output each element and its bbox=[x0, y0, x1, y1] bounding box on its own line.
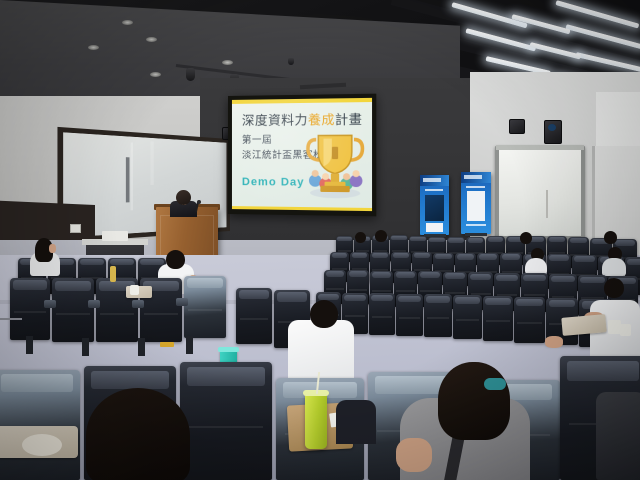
audience-head bbox=[604, 278, 624, 298]
drink-bottle bbox=[110, 266, 116, 282]
seat[interactable] bbox=[369, 293, 395, 335]
audience-hair bbox=[86, 388, 190, 480]
slide-canvas: 深度資料力養成計畫 第一屆 淡江統計盃黑客松 Demo Day bbox=[232, 98, 372, 211]
audience-head bbox=[166, 250, 185, 269]
seat-armrest bbox=[176, 298, 188, 306]
audience-torso bbox=[336, 400, 376, 444]
roll-up-banner-left bbox=[420, 175, 449, 235]
recessed-downlight bbox=[88, 45, 99, 50]
projection-screen: 深度資料力養成計畫 第一屆 淡江統計盃黑客松 Demo Day bbox=[228, 94, 376, 217]
audience-arm bbox=[396, 438, 432, 472]
banner-header bbox=[461, 172, 491, 183]
white-cup bbox=[620, 324, 631, 336]
lecture-hall-photo: 深度資料力養成計畫 第一屆 淡江統計盃黑客松 Demo Day bbox=[0, 0, 640, 480]
seat[interactable] bbox=[10, 278, 50, 340]
recessed-downlight bbox=[146, 37, 157, 42]
blind-rail bbox=[496, 145, 584, 150]
microphone-head bbox=[197, 200, 201, 204]
audience-head bbox=[520, 232, 532, 244]
seat[interactable] bbox=[236, 288, 272, 344]
track-spotlight bbox=[186, 68, 195, 81]
banner-textblock bbox=[426, 223, 443, 232]
banner-poster-area bbox=[467, 191, 485, 221]
banner-stand bbox=[465, 233, 487, 236]
recessed-downlight bbox=[150, 72, 161, 77]
hair-tie bbox=[484, 378, 506, 390]
wall-outlet bbox=[70, 224, 81, 233]
teal-cup-lid bbox=[218, 347, 239, 352]
seat[interactable] bbox=[52, 278, 94, 342]
audience-head bbox=[355, 232, 366, 243]
recessed-downlight bbox=[122, 20, 133, 25]
banner-photo bbox=[425, 195, 444, 221]
audience-hand bbox=[545, 336, 563, 348]
recessed-downlight bbox=[222, 60, 233, 65]
seat-armrest bbox=[44, 300, 56, 308]
roll-up-banner-right bbox=[461, 172, 491, 234]
laptop-on-cart bbox=[102, 231, 128, 241]
banner-header bbox=[420, 175, 449, 186]
floor-cable bbox=[0, 318, 22, 320]
audience-torso bbox=[602, 258, 626, 276]
window-roller-blind bbox=[499, 150, 581, 236]
plate bbox=[22, 434, 62, 456]
audience-torso bbox=[596, 392, 640, 480]
blind-pull-cord[interactable] bbox=[546, 190, 548, 218]
banner-title-line bbox=[425, 189, 443, 191]
seat-armrest bbox=[132, 300, 144, 308]
whiteboard-marker-mark bbox=[125, 158, 129, 203]
seat[interactable] bbox=[483, 296, 513, 341]
green-drink-cup bbox=[305, 393, 327, 449]
seat[interactable] bbox=[396, 294, 423, 336]
seat-armrest bbox=[88, 300, 100, 308]
wall-speaker bbox=[509, 119, 525, 134]
whiteboard-streak bbox=[151, 142, 154, 185]
audience-head bbox=[604, 231, 617, 244]
seat[interactable] bbox=[424, 294, 452, 337]
whiteboard-streak bbox=[130, 142, 132, 210]
seat-leg bbox=[138, 338, 145, 356]
audience-head bbox=[310, 300, 338, 328]
banner-footer-line bbox=[466, 224, 486, 226]
seat[interactable] bbox=[453, 295, 482, 339]
tablet-arm-desk bbox=[561, 314, 606, 336]
audience-face bbox=[49, 244, 56, 253]
audience-hair bbox=[438, 362, 510, 440]
seat[interactable] bbox=[0, 370, 80, 480]
track-spotlight bbox=[288, 58, 294, 65]
seat-leg bbox=[82, 338, 89, 356]
seat[interactable] bbox=[180, 362, 272, 480]
presenter-head bbox=[176, 190, 191, 205]
white-cup bbox=[130, 285, 139, 295]
seat[interactable] bbox=[184, 276, 226, 338]
seat-leg bbox=[26, 336, 33, 354]
screen-glare bbox=[232, 98, 372, 211]
seat-marker bbox=[160, 342, 174, 347]
seat[interactable] bbox=[514, 297, 545, 343]
seat-leg bbox=[186, 336, 193, 354]
banner-title-line bbox=[466, 186, 485, 188]
audience-torso bbox=[525, 258, 547, 274]
speaker-cone bbox=[548, 124, 556, 131]
audience-head bbox=[375, 230, 387, 242]
